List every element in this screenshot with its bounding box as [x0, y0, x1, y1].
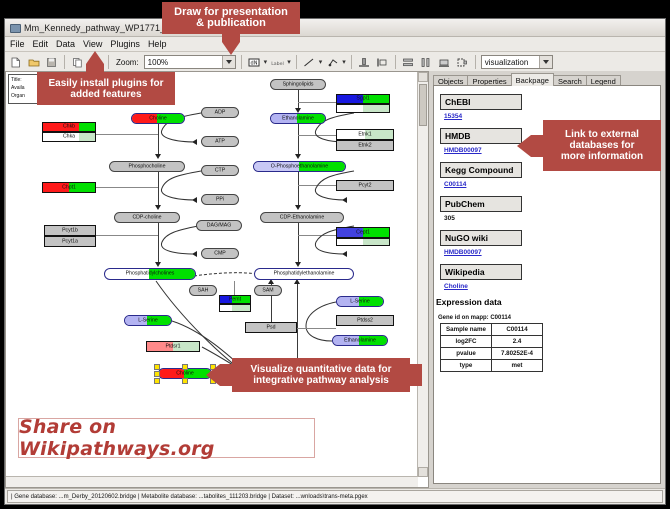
- node-label: SAH: [190, 288, 216, 293]
- gene-fill-right: [363, 105, 389, 112]
- tab-backpage[interactable]: Backpage: [511, 73, 554, 86]
- selection-handle[interactable]: [154, 378, 160, 384]
- node-phosphatidylcholines[interactable]: Phosphatidylcholines: [104, 268, 196, 280]
- node-choline[interactable]: Choline: [131, 113, 185, 124]
- scroll-up-icon[interactable]: [418, 72, 428, 82]
- callout-line-3: more information: [561, 151, 643, 162]
- zoom-label: Zoom:: [116, 58, 139, 67]
- section-header: NuGO wiki: [440, 230, 522, 246]
- selection-handle[interactable]: [154, 371, 160, 377]
- selection-handle[interactable]: [154, 364, 160, 370]
- callout-visualize: Visualize quantitative data for integrat…: [232, 358, 410, 392]
- anchor-line-icon[interactable]: [325, 55, 340, 70]
- gene-cept1-row2[interactable]: [336, 238, 390, 246]
- row-value: C00114: [492, 324, 543, 336]
- gene-fill-right: [363, 228, 389, 237]
- svg-text:dN: dN: [251, 60, 258, 66]
- menu-item-help[interactable]: Help: [148, 39, 167, 49]
- chebi-link[interactable]: 15354: [444, 113, 660, 120]
- toolbar-separator: [241, 55, 242, 69]
- align-left-icon[interactable]: [375, 55, 390, 70]
- callout-link-arrow: [517, 135, 531, 157]
- node-adp[interactable]: ADP: [201, 107, 239, 118]
- gene-chkb[interactable]: Chkb: [42, 122, 96, 132]
- anchor-dropdown-icon[interactable]: ▾: [342, 58, 346, 66]
- node-label: CDP-Ethanolamine: [261, 215, 343, 220]
- row-label: log2FC: [441, 336, 492, 348]
- svg-text:Label: Label: [271, 60, 284, 66]
- menu-item-view[interactable]: View: [83, 39, 102, 49]
- node-o-phosphoethanolamine[interactable]: O-Phosphoethanolamine: [253, 161, 346, 172]
- gene-fill-left: [337, 105, 365, 112]
- node-ctp[interactable]: CTP: [201, 165, 239, 176]
- gene-psd[interactable]: Psd: [245, 322, 297, 333]
- node-sah[interactable]: SAH: [189, 285, 217, 296]
- node-fill-left: [159, 369, 186, 378]
- gene-fill-right: [363, 95, 389, 103]
- arrow-icon: [192, 251, 197, 257]
- stack-icon[interactable]: [437, 55, 452, 70]
- gene-fill-left: [43, 183, 71, 192]
- gene-id-line: Gene id on mapp: C00114: [438, 315, 660, 321]
- wikipedia-link[interactable]: Choline: [444, 283, 660, 290]
- gene-chka[interactable]: Chka: [42, 132, 96, 142]
- node-label: CMP: [202, 251, 238, 256]
- gene-sgpl1-row2[interactable]: [336, 104, 390, 113]
- node-label: PPi: [202, 197, 238, 202]
- gene-fill-right: [79, 133, 95, 141]
- node-label: Phosphocholine: [110, 164, 184, 169]
- row-value: met: [492, 360, 543, 372]
- gene-label: Pcyt1a: [45, 239, 95, 244]
- gene-ptdss2[interactable]: Ptdss2: [336, 315, 394, 326]
- menu-bar: File Edit Data View Plugins Help: [5, 37, 665, 52]
- label-dropdown-icon[interactable]: ▾: [287, 58, 291, 66]
- callout-plugins-arrow: [86, 51, 104, 64]
- new-file-icon[interactable]: [8, 55, 23, 70]
- menu-item-edit[interactable]: Edit: [33, 39, 49, 49]
- node-fill-right: [149, 269, 195, 279]
- toolbar-separator: [108, 55, 109, 69]
- gene-etnk2[interactable]: Etnk2: [336, 140, 394, 151]
- table-row: type met: [441, 360, 543, 372]
- gene-label: Etnk2: [337, 143, 393, 148]
- tool-bar: Zoom: 100% dN ▾ Label ▾ ▾ ▾: [5, 52, 665, 73]
- section-header: Wikipedia: [440, 264, 522, 280]
- visualization-value: visualization: [485, 58, 529, 67]
- node-fill-left: [132, 114, 159, 123]
- gene-fill-left: [337, 95, 365, 103]
- node-label: CDP-choline: [115, 215, 179, 220]
- node-ethanolamine-top[interactable]: Ethanolamine: [270, 113, 326, 124]
- callout-draw-tail: [222, 34, 240, 42]
- gene-fill-right: [173, 342, 199, 351]
- node-phosphatidylethanolamine[interactable]: Phosphatidylethanolamine: [254, 268, 354, 280]
- gene-label: Pcyt2: [337, 183, 393, 188]
- callout-link-databases: Link to external databases for more info…: [543, 120, 661, 171]
- gene-etnk1[interactable]: Etnk1: [336, 129, 394, 140]
- gene-fill-right: [365, 130, 393, 139]
- toolbar-separator: [351, 55, 352, 69]
- menu-item-plugins[interactable]: Plugins: [110, 39, 140, 49]
- toolbar-separator: [296, 55, 297, 69]
- node-phosphocholine[interactable]: Phosphocholine: [109, 161, 185, 172]
- scroll-thumb[interactable]: [419, 84, 427, 126]
- section-wikipedia: Wikipedia Choline: [440, 262, 660, 290]
- node-fill-left: [254, 162, 301, 171]
- gene-pcyt1a[interactable]: Pcyt1a: [44, 236, 96, 247]
- node-fill-right: [157, 114, 184, 123]
- row-label: pvalue: [441, 348, 492, 360]
- node-l-serine-left[interactable]: L-Serine: [124, 315, 172, 326]
- toolbar-separator: [64, 55, 65, 69]
- node-sphingolipids[interactable]: Sphingolipids: [270, 79, 326, 90]
- callout-draw: Draw for presentation & publication: [162, 2, 300, 34]
- gene-fill-right: [79, 123, 95, 131]
- line-dropdown-icon[interactable]: ▾: [319, 58, 323, 66]
- row-label: Sample name: [441, 324, 492, 336]
- node-l-serine-right[interactable]: L-Serine: [336, 296, 384, 307]
- expression-data-title: Expression data: [436, 297, 660, 307]
- gene-pemt-row2[interactable]: [219, 304, 251, 312]
- node-fill-right: [359, 336, 387, 345]
- zoom-value: 100%: [148, 58, 168, 67]
- node-fill-right: [359, 297, 383, 306]
- gene-fill-left: [337, 130, 367, 139]
- nugo-link[interactable]: HMDB00097: [444, 249, 660, 256]
- open-folder-icon[interactable]: [26, 55, 41, 70]
- label-icon[interactable]: Label: [270, 55, 285, 70]
- callout-plugins-tail: [86, 64, 104, 72]
- arrow-icon: [342, 197, 347, 203]
- distribute-vertical-icon[interactable]: [401, 55, 416, 70]
- gene-fill-right: [232, 305, 250, 311]
- arrow-icon: [192, 197, 197, 203]
- table-row: pvalue 7.80252E-4: [441, 348, 543, 360]
- toolbar-separator: [475, 55, 476, 69]
- gene-pcyt2[interactable]: Pcyt2: [336, 180, 394, 191]
- callout-share: Share on Wikipathways.org: [18, 418, 315, 458]
- node-cmp[interactable]: CMP: [201, 248, 239, 259]
- gene-fill-right: [69, 183, 95, 192]
- share-text: Share on Wikipathways.org: [19, 416, 314, 460]
- chevron-down-icon[interactable]: [539, 56, 552, 68]
- chevron-down-icon[interactable]: [222, 56, 235, 68]
- menu-item-file[interactable]: File: [10, 39, 25, 49]
- node-fill-left: [333, 336, 361, 345]
- section-chebi: ChEBI 15354: [440, 92, 660, 120]
- pubchem-value: 305: [444, 215, 660, 222]
- gene-fill-right: [363, 239, 389, 245]
- node-fill-right: [297, 114, 325, 123]
- callout-line-2: added features: [70, 89, 141, 100]
- gene-chpt1[interactable]: Chpt1: [42, 182, 96, 193]
- callout-visualize-arrow-left: [206, 364, 220, 386]
- arrow-icon: [342, 251, 347, 257]
- group-icon[interactable]: [455, 55, 470, 70]
- callout-visualize-tail-right: [410, 364, 422, 386]
- node-label: ATP: [202, 139, 238, 144]
- canvas-vertical-scrollbar[interactable]: [417, 72, 428, 477]
- selection-handle[interactable]: [182, 378, 188, 384]
- arrow-icon: [192, 139, 197, 145]
- menu-item-data[interactable]: Data: [56, 39, 75, 49]
- gene-pemt[interactable]: Pemt: [219, 295, 251, 304]
- gene-cept1[interactable]: Cept1: [336, 227, 390, 238]
- gene-fill-left: [337, 239, 365, 245]
- node-ethanolamine-bottom[interactable]: Ethanolamine: [332, 335, 388, 346]
- node-cdp-ethanolamine[interactable]: CDP-Ethanolamine: [260, 212, 344, 223]
- section-header: Kegg Compound: [440, 162, 522, 178]
- gene-fill-left: [147, 342, 175, 351]
- node-ppi[interactable]: PPi: [201, 194, 239, 205]
- table-row: log2FC 2.4: [441, 336, 543, 348]
- node-fill-left: [337, 297, 361, 306]
- kegg-link[interactable]: C00114: [444, 181, 660, 188]
- node-label: Phosphatidylethanolamine: [255, 271, 353, 276]
- edge: [297, 328, 336, 329]
- node-label: SAM: [255, 288, 281, 293]
- datanode-dropdown-icon[interactable]: ▾: [264, 58, 268, 66]
- node-label: ADP: [202, 110, 238, 115]
- node-label: DAG/MAG: [197, 223, 241, 228]
- callout-line-2: databases for: [569, 140, 634, 151]
- row-value: 7.80252E-4: [492, 348, 543, 360]
- gene-fill-right: [232, 296, 250, 303]
- node-fill-right: [147, 316, 171, 325]
- section-header: PubChem: [440, 196, 522, 212]
- distribute-horizontal-icon[interactable]: [419, 55, 434, 70]
- status-text: | Gene database: ...m_Derby_20120602.bri…: [7, 490, 663, 503]
- node-atp[interactable]: ATP: [201, 136, 239, 147]
- selection-handle[interactable]: [182, 364, 188, 370]
- save-icon[interactable]: [44, 55, 59, 70]
- copy-icon[interactable]: [70, 55, 85, 70]
- scroll-down-icon[interactable]: [418, 467, 428, 477]
- table-row: Sample name C00114: [441, 324, 543, 336]
- screenshot-root: Mm_Kennedy_pathway_WP1771_45176.gpml Fil…: [0, 0, 670, 509]
- node-fill-right: [299, 162, 345, 171]
- canvas-horizontal-scrollbar[interactable]: [6, 476, 418, 487]
- line-icon[interactable]: [302, 55, 317, 70]
- toolbar-separator: [395, 55, 396, 69]
- align-bottom-icon[interactable]: [357, 55, 372, 70]
- gene-sgpl1[interactable]: Sgpl1: [336, 94, 390, 104]
- node-fill-left: [125, 316, 149, 325]
- title-bar: Mm_Kennedy_pathway_WP1771_45176.gpml: [5, 19, 665, 37]
- node-label: Sphingolipids: [271, 82, 325, 87]
- visualization-combo[interactable]: visualization: [481, 55, 553, 69]
- datanode-icon[interactable]: dN: [247, 55, 262, 70]
- gene-pcyt1b[interactable]: Pcyt1b: [44, 225, 96, 236]
- callout-line-1: Visualize quantitative data for: [251, 364, 392, 375]
- callout-plugins: Easily install plugins for added feature…: [37, 72, 175, 105]
- status-bar: | Gene database: ...m_Derby_20120602.bri…: [5, 488, 665, 504]
- section-header: HMDB: [440, 128, 522, 144]
- callout-line-1: Easily install plugins for: [48, 78, 163, 89]
- node-sam[interactable]: SAM: [254, 285, 282, 296]
- gene-label: Psd: [246, 325, 296, 330]
- callout-draw-arrow: [222, 42, 240, 55]
- zoom-combo[interactable]: 100%: [144, 55, 236, 69]
- pathvisio-icon: [9, 22, 20, 33]
- callout-link-tail: [531, 135, 543, 157]
- expression-table: Sample name C00114 log2FC 2.4 pvalue 7.8…: [440, 323, 543, 372]
- gene-fill-left: [337, 228, 365, 237]
- section-nugo-wiki: NuGO wiki HMDB00097: [440, 228, 660, 256]
- callout-line-2: integrative pathway analysis: [253, 375, 389, 386]
- node-cdp-choline[interactable]: CDP-choline: [114, 212, 180, 223]
- callout-visualize-tail-left: [220, 364, 232, 386]
- node-fill-left: [271, 114, 299, 123]
- section-header: ChEBI: [440, 94, 522, 110]
- gene-fill-left: [43, 123, 81, 131]
- callout-line-2: & publication: [196, 18, 266, 29]
- row-value: 2.4: [492, 336, 543, 348]
- node-dag-mag[interactable]: DAG/MAG: [196, 220, 242, 231]
- gene-label: Pcyt1b: [45, 228, 95, 233]
- callout-line-1: Link to external: [565, 129, 639, 140]
- row-label: type: [441, 360, 492, 372]
- gene-fill-left: [43, 133, 81, 141]
- gene-label: Ptdss2: [337, 318, 393, 323]
- node-label: CTP: [202, 168, 238, 173]
- section-pubchem: PubChem 305: [440, 194, 660, 222]
- gene-ptdsr1[interactable]: Ptdsr1: [146, 341, 200, 352]
